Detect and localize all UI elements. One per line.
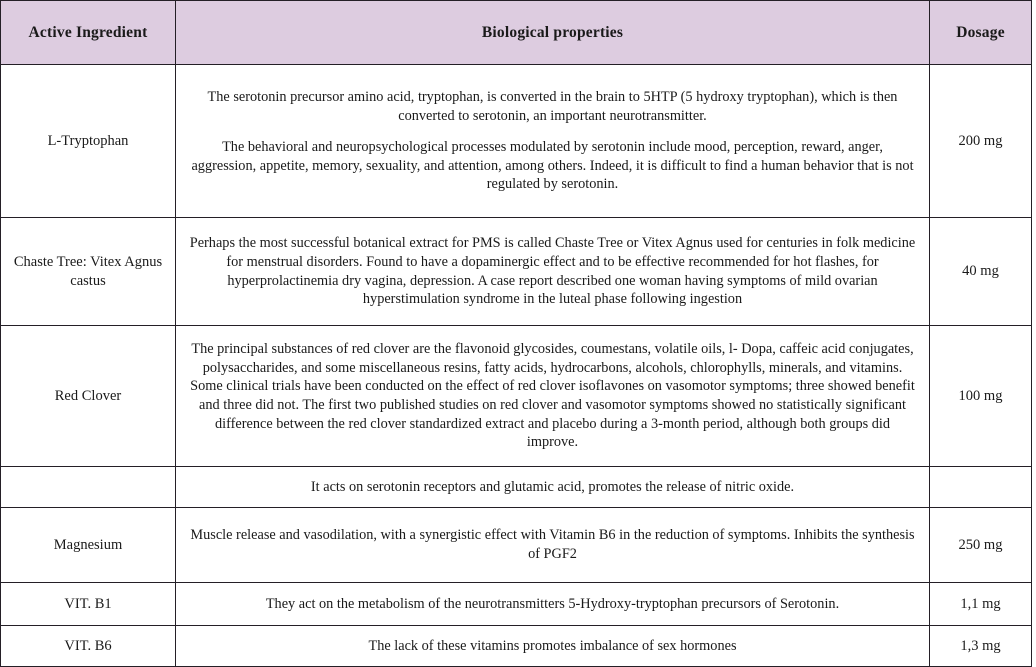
- cell-ingredient: Magnesium: [1, 508, 176, 583]
- properties-paragraph: Perhaps the most successful botanical ex…: [188, 234, 917, 308]
- properties-paragraph: The lack of these vitamins promotes imba…: [188, 637, 917, 656]
- properties-paragraph: Muscle release and vasodilation, with a …: [188, 526, 917, 563]
- header-row: Active Ingredient Biological properties …: [1, 1, 1032, 65]
- table-body: L-Tryptophan The serotonin precursor ami…: [1, 65, 1032, 667]
- cell-dosage: 1,3 mg: [930, 626, 1032, 667]
- cell-dosage: 1,1 mg: [930, 583, 1032, 626]
- cell-dosage: 100 mg: [930, 326, 1032, 467]
- cell-dosage: [930, 467, 1032, 508]
- table-row: VIT. B6 The lack of these vitamins promo…: [1, 626, 1032, 667]
- active-ingredients-table: Active Ingredient Biological properties …: [0, 0, 1032, 667]
- table-row: Magnesium Muscle release and vasodilatio…: [1, 508, 1032, 583]
- cell-ingredient: [1, 467, 176, 508]
- cell-properties: The lack of these vitamins promotes imba…: [176, 626, 930, 667]
- cell-dosage: 40 mg: [930, 218, 1032, 326]
- header-active-ingredient: Active Ingredient: [1, 1, 176, 65]
- table-row: Red Clover The principal substances of r…: [1, 326, 1032, 467]
- cell-properties: The principal substances of red clover a…: [176, 326, 930, 467]
- cell-ingredient: Red Clover: [1, 326, 176, 467]
- table-row: It acts on serotonin receptors and gluta…: [1, 467, 1032, 508]
- cell-dosage: 250 mg: [930, 508, 1032, 583]
- properties-paragraph: It acts on serotonin receptors and gluta…: [188, 478, 917, 497]
- header-biological-properties: Biological properties: [176, 1, 930, 65]
- cell-properties: It acts on serotonin receptors and gluta…: [176, 467, 930, 508]
- properties-paragraph: The serotonin precursor amino acid, tryp…: [188, 88, 917, 125]
- table-header: Active Ingredient Biological properties …: [1, 1, 1032, 65]
- cell-ingredient: VIT. B1: [1, 583, 176, 626]
- cell-properties: Muscle release and vasodilation, with a …: [176, 508, 930, 583]
- header-dosage: Dosage: [930, 1, 1032, 65]
- cell-properties: They act on the metabolism of the neurot…: [176, 583, 930, 626]
- properties-paragraph: They act on the metabolism of the neurot…: [188, 595, 917, 614]
- cell-properties: Perhaps the most successful botanical ex…: [176, 218, 930, 326]
- cell-properties: The serotonin precursor amino acid, tryp…: [176, 65, 930, 218]
- cell-ingredient: L-Tryptophan: [1, 65, 176, 218]
- properties-paragraph: The behavioral and neuropsychological pr…: [188, 138, 917, 194]
- table-container: Active Ingredient Biological properties …: [0, 0, 1031, 667]
- cell-ingredient: VIT. B6: [1, 626, 176, 667]
- cell-ingredient: Chaste Tree: Vitex Agnus castus: [1, 218, 176, 326]
- table-row: L-Tryptophan The serotonin precursor ami…: [1, 65, 1032, 218]
- properties-paragraph: The principal substances of red clover a…: [188, 340, 917, 451]
- cell-dosage: 200 mg: [930, 65, 1032, 218]
- table-row: VIT. B1 They act on the metabolism of th…: [1, 583, 1032, 626]
- table-row: Chaste Tree: Vitex Agnus castus Perhaps …: [1, 218, 1032, 326]
